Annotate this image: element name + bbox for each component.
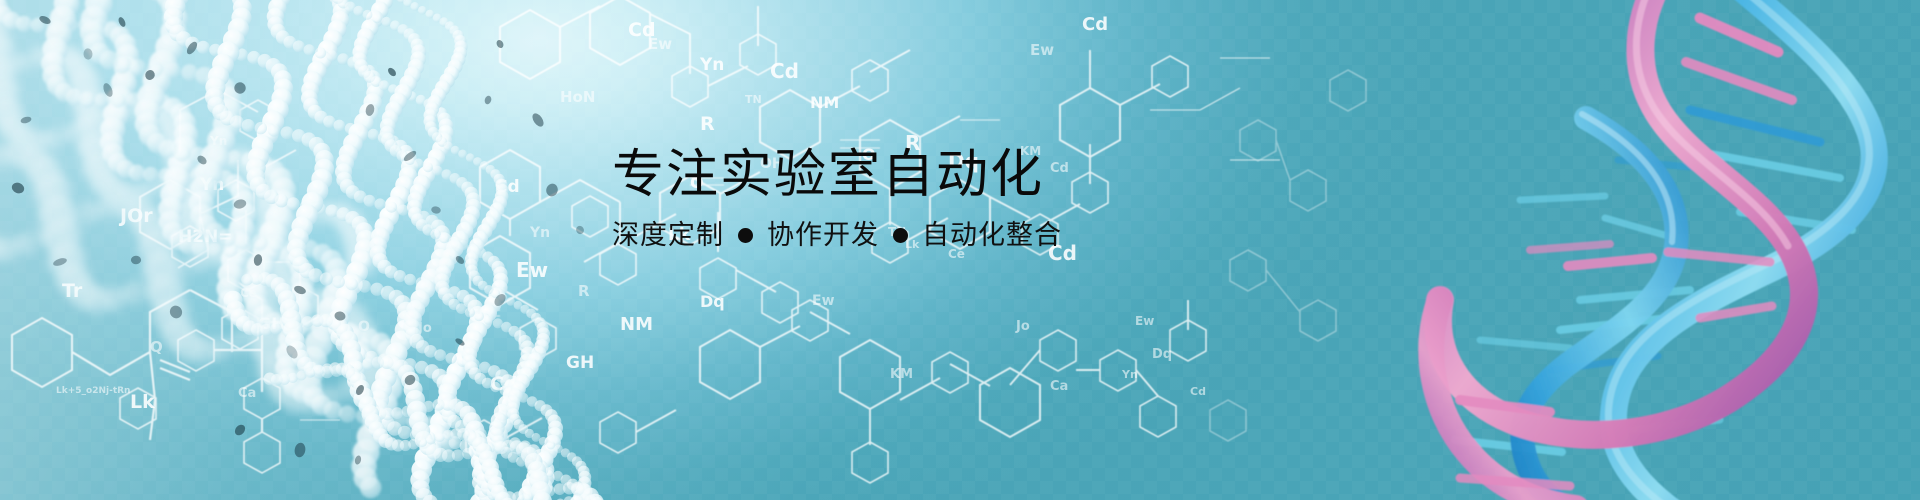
helix-bead [242, 119, 255, 132]
helix-bead [372, 13, 382, 23]
helix-bead [122, 282, 146, 306]
helix-bead [474, 311, 484, 321]
helix-bead [417, 437, 427, 447]
helix-bead [360, 477, 382, 499]
helix-bead [506, 297, 515, 306]
chem-label: Yn [699, 55, 724, 75]
helix-bead [326, 205, 339, 218]
helix-speck [545, 182, 560, 198]
dna-rung [1568, 258, 1652, 266]
dna-rung [1520, 196, 1605, 200]
helix-bead [374, 198, 385, 209]
dna-rung [1480, 340, 1570, 348]
hero-subtitle: 深度定制 协作开发 自动化整合 [612, 220, 1312, 251]
chem-label: KM [890, 367, 913, 382]
helix-bead [207, 242, 222, 257]
helix-bead [270, 323, 282, 335]
chem-label: Ew [812, 293, 835, 309]
helix-speck [233, 423, 247, 438]
helix-speck [575, 224, 586, 235]
chem-label: TN [745, 93, 762, 106]
hero-text-block: 专注实验室自动化 深度定制 协作开发 自动化整合 [612, 148, 1312, 251]
hero-banner: TrLkQCaGHLk+5_o2Nj-tRnJOrH2N=YnYnOCeCdCd… [0, 0, 1920, 500]
helix-bead [252, 235, 268, 251]
helix-bead [269, 236, 285, 252]
helix-bead [391, 407, 403, 419]
helix-bead [304, 44, 315, 55]
bullet-dot-icon [893, 228, 908, 243]
helix-bead [315, 47, 326, 58]
helix-bead [547, 441, 556, 450]
helix-bead [433, 166, 443, 176]
helix-bead [218, 229, 236, 247]
helix-bead [287, 197, 300, 210]
helix-bead [297, 371, 307, 381]
helix-bead [197, 41, 210, 54]
helix-bead [82, 115, 102, 135]
helix-bead [320, 272, 333, 285]
chem-label: Ew [1135, 314, 1154, 328]
helix-bead [397, 205, 408, 216]
helix-bead [423, 162, 433, 172]
chem-label: R [700, 113, 715, 135]
helix-bead [539, 437, 548, 446]
helix-speck [530, 111, 546, 128]
helix-bead [339, 405, 356, 422]
chem-label: Cd [1190, 385, 1206, 398]
helix-bead [439, 233, 449, 243]
helix-bead [16, 16, 33, 33]
dna-rung [1530, 244, 1610, 250]
helix-bead [346, 278, 358, 290]
dna-rung [1605, 218, 1668, 236]
helix-bead [363, 10, 373, 20]
helix-speck [431, 206, 442, 215]
chem-label: Cd [1082, 14, 1108, 35]
bullet-dot-icon [738, 228, 753, 243]
helix-bead [326, 50, 337, 61]
chem-label: Ca [1050, 379, 1068, 394]
dna-rung [1460, 478, 1570, 486]
helix-bead [36, 224, 59, 247]
helix-bead [113, 56, 131, 74]
helix-bead [42, 129, 64, 151]
helix-bead [165, 63, 181, 79]
helix-bead [386, 202, 397, 213]
chem-label: Dq [1152, 347, 1172, 362]
helix-bead [414, 159, 424, 169]
helix-bead [394, 270, 406, 282]
helix-bead [337, 53, 349, 65]
helix-bead [445, 353, 456, 364]
helix-bead [404, 274, 416, 286]
helix-bead [484, 315, 494, 325]
subtitle-item-0: 深度定制 [612, 220, 724, 251]
helix-bead [268, 124, 280, 136]
chem-label: NM [810, 93, 839, 112]
helix-bead [143, 167, 159, 183]
helix-bead [234, 232, 251, 249]
helix-bead [490, 382, 500, 392]
chem-label: Yn [1121, 368, 1138, 381]
subtitle-item-1: 协作开发 [767, 220, 879, 251]
helix-bead [434, 349, 446, 361]
helix-bead [465, 307, 475, 317]
helix-bead [410, 2, 419, 11]
helix-speck [10, 181, 26, 195]
chem-label: Jo [1015, 319, 1030, 334]
helix-bead [334, 120, 346, 132]
helix-bead [398, 426, 411, 439]
helix-speck [495, 39, 505, 49]
dna-rung [1690, 110, 1820, 142]
helix-bead [111, 93, 126, 108]
helix-bead [358, 280, 371, 293]
chem-label: Cd [770, 59, 799, 83]
helix-bead [364, 195, 376, 207]
helix-speck [131, 256, 141, 265]
helix-bead [379, 80, 389, 90]
helix-bead [332, 276, 345, 289]
helix-bead [58, 212, 80, 234]
helix-bead [353, 6, 363, 16]
color-dna-double-helix [1400, 0, 1920, 500]
helix-bead [418, 6, 427, 15]
helix-bead [426, 435, 436, 445]
helix-bead [275, 194, 288, 207]
helix-bead [281, 126, 294, 139]
helix-bead [61, 124, 81, 144]
white-beaded-dna-helix [0, 0, 700, 500]
dna-rung [1686, 62, 1792, 100]
helix-bead [293, 40, 305, 52]
helix-bead [462, 448, 473, 459]
helix-bead [408, 439, 419, 450]
helix-bead [181, 64, 198, 81]
subtitle-item-2: 自动化整合 [922, 220, 1062, 251]
helix-bead [173, 144, 190, 161]
helix-speck [484, 95, 493, 105]
helix-bead [452, 449, 464, 461]
page-title: 专注实验室自动化 [612, 148, 1312, 203]
chem-label: Ew [1030, 41, 1054, 59]
helix-bead [129, 59, 146, 76]
helix-bead [458, 150, 467, 159]
helix-bead [79, 91, 95, 107]
helix-bead [129, 165, 146, 182]
helix-bead [305, 368, 315, 378]
helix-speck [386, 66, 397, 77]
helix-bead [230, 115, 244, 129]
helix-bead [14, 233, 38, 257]
helix-bead [255, 122, 267, 134]
chem-label: Dq [700, 292, 725, 311]
helix-bead [192, 240, 209, 257]
helix-bead [288, 373, 298, 383]
helix-speck [294, 442, 307, 458]
helix-bead [381, 17, 391, 27]
